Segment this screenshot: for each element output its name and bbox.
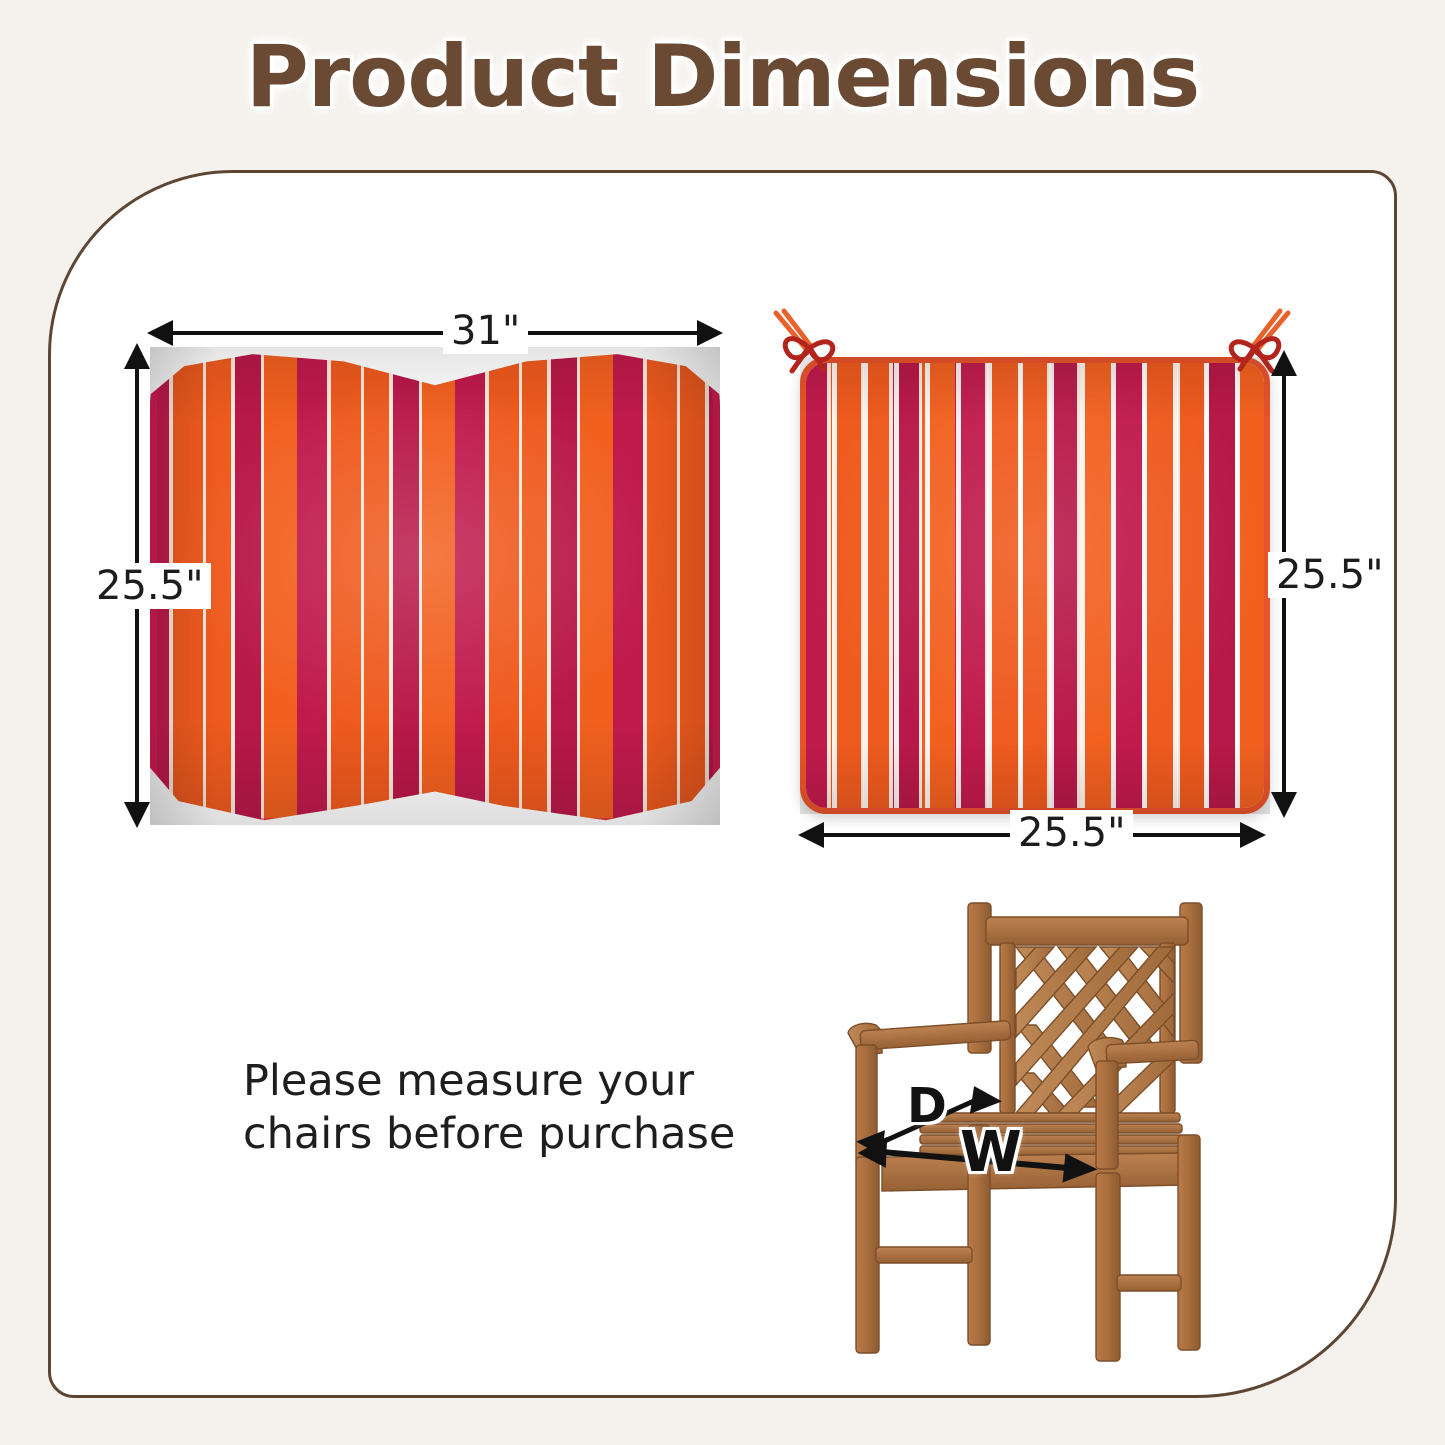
ribbon-bow-icon bbox=[762, 305, 852, 375]
arrow-right-icon bbox=[1240, 822, 1266, 848]
pillow-body bbox=[150, 347, 720, 825]
arrow-down-icon bbox=[124, 802, 150, 828]
depth-label: D bbox=[907, 1078, 947, 1134]
pillow-width-arrow-line bbox=[170, 331, 704, 335]
arrow-down-icon bbox=[1271, 792, 1297, 818]
seat-width-label: 25.5" bbox=[1010, 810, 1133, 856]
width-label: W bbox=[960, 1120, 1022, 1185]
seat-height-label: 25.5" bbox=[1268, 552, 1391, 598]
seat-stripe-fabric bbox=[800, 357, 1270, 814]
pillow-width-label: 31" bbox=[443, 308, 528, 354]
measure-note: Please measure your chairs before purcha… bbox=[243, 1055, 783, 1162]
page-title: Product Dimensions bbox=[246, 27, 1200, 127]
seat-body bbox=[800, 357, 1270, 814]
measure-note-line1: Please measure your bbox=[243, 1055, 783, 1108]
pillow-height-label: 25.5" bbox=[88, 563, 211, 609]
title-bar: Product Dimensions bbox=[0, 22, 1445, 132]
seat-cushion-image bbox=[800, 357, 1270, 814]
measure-note-line2: chairs before purchase bbox=[243, 1108, 783, 1161]
back-pillow-image bbox=[150, 347, 720, 825]
pillow-stripe-fabric bbox=[150, 347, 720, 825]
arrow-right-icon bbox=[697, 320, 723, 346]
